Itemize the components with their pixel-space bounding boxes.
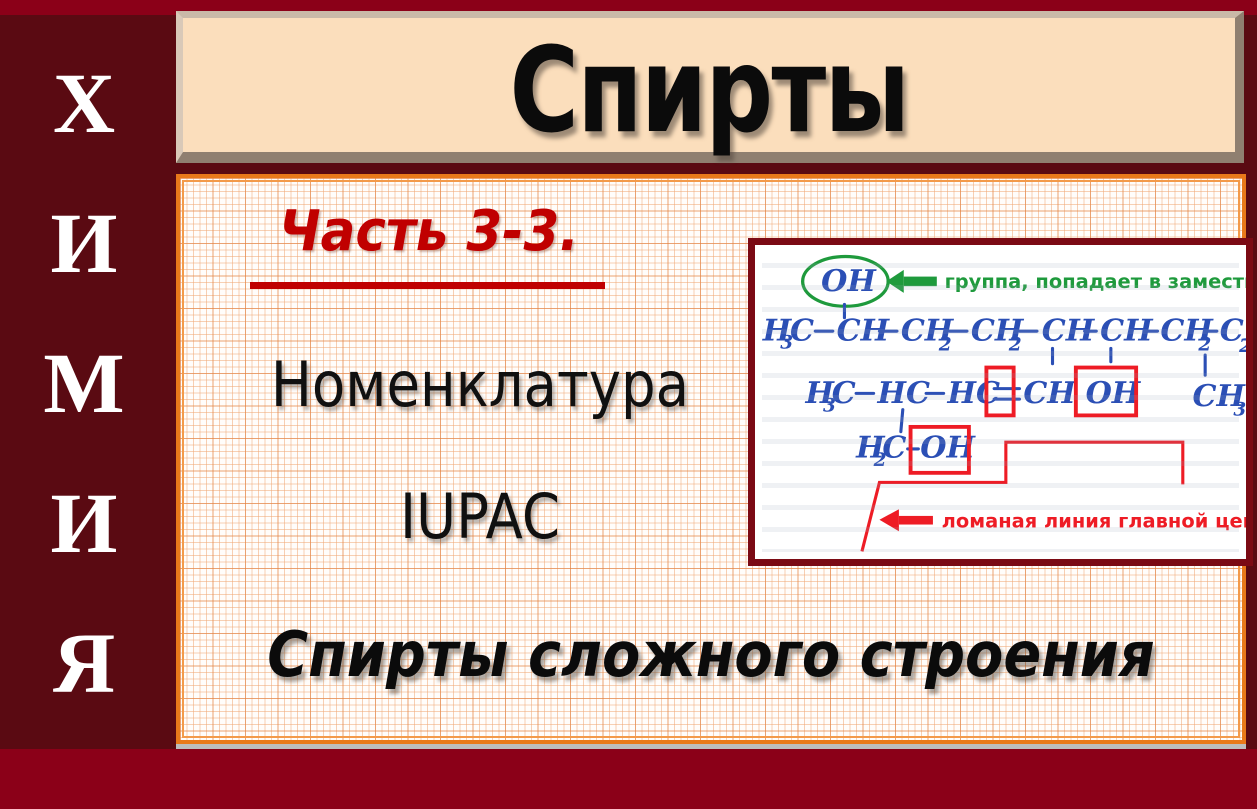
bond-row2-down xyxy=(901,410,903,432)
svg-text:2: 2 xyxy=(1197,334,1211,355)
heading-iupac: IUPAC xyxy=(216,480,744,554)
part-label-underline xyxy=(250,282,605,289)
part-label: Часть 3-3. xyxy=(213,200,645,264)
slide-root: Х И М И Я Спирты Часть 3-3. Номенклатура… xyxy=(0,0,1257,809)
svg-text:2: 2 xyxy=(1008,334,1022,355)
svg-text:C: C xyxy=(832,376,856,411)
sidebar-letter-2: И xyxy=(51,200,118,286)
slide-subtitle: Спирты сложного строения xyxy=(230,618,1193,692)
title-plate: Спирты xyxy=(176,11,1244,163)
circled-oh-label: OH xyxy=(821,264,877,299)
svg-text:3: 3 xyxy=(1233,400,1246,421)
chemistry-figure: .ink{font-family:"DejaVu Serif",serif;fo… xyxy=(748,238,1253,566)
svg-text:CH: CH xyxy=(1023,376,1077,411)
page-title: Спирты xyxy=(288,20,1130,160)
svg-text:2: 2 xyxy=(1238,336,1246,357)
svg-text:C: C xyxy=(790,314,814,349)
figure-annotation-bottom: ломаная линия главной цепи xyxy=(942,510,1246,533)
figure-canvas: .ink{font-family:"DejaVu Serif",serif;fo… xyxy=(755,245,1246,559)
heading-nomenclature: Номенклатура xyxy=(216,348,744,422)
svg-text:OH: OH xyxy=(1086,376,1142,411)
svg-text:HC: HC xyxy=(876,376,930,411)
formula-row-2: H3C HC HC CH OH xyxy=(805,376,1142,416)
sidebar-letter-1: Х xyxy=(53,60,115,146)
bottom-decor-band xyxy=(0,749,1257,809)
svg-text:2: 2 xyxy=(938,334,952,355)
svg-text:C: C xyxy=(882,431,906,466)
figure-annotation-top: группа, попадает в заместитель xyxy=(945,270,1246,293)
sidebar-vertical-word: Х И М И Я xyxy=(0,33,168,733)
sidebar-letter-4: И xyxy=(51,480,118,566)
svg-text:HC: HC xyxy=(947,376,1001,411)
sidebar-letter-5: Я xyxy=(53,620,115,706)
sidebar-letter-3: М xyxy=(43,340,124,426)
subject-sidebar: Х И М И Я xyxy=(0,15,168,749)
